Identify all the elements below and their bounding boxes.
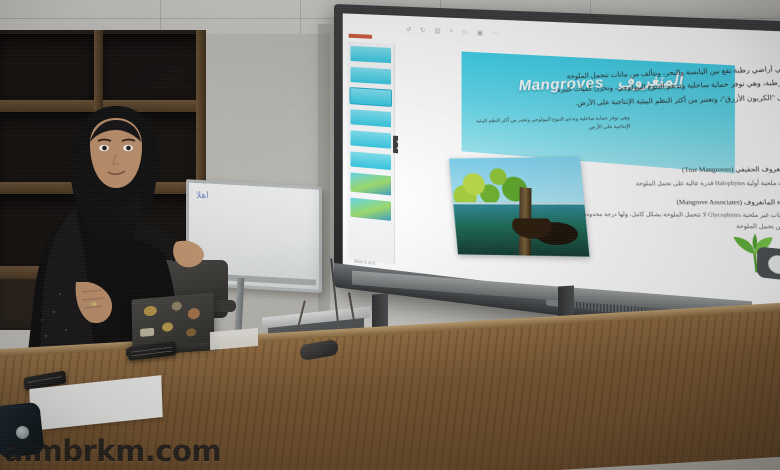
- bullet-head-arabic: المانغروف الحقيقي: [735, 167, 780, 174]
- list-item: المانغروف الحقيقي (True Mangroves) نباتا…: [576, 165, 780, 190]
- bullet-head-english: (True Mangroves): [682, 167, 734, 174]
- slide-bullet-list: المانغروف الحقيقي (True Mangroves) نباتا…: [576, 164, 780, 233]
- redo-icon[interactable]: ↻: [420, 26, 425, 33]
- bullet-head-english: (Mangrove Associates): [676, 199, 742, 206]
- photo-screenshot: اهلا ↺ ↻ ▤ ⌕ ▷ ▣ ⋯: [0, 0, 780, 470]
- slide-thumbnail[interactable]: [351, 109, 392, 127]
- play-icon[interactable]: ▷: [463, 28, 468, 36]
- slide-thumbnail[interactable]: [351, 130, 392, 148]
- bullet-sub: نباتات ملحية أولية Halophytes قدرة عالية…: [577, 177, 780, 189]
- bullet-head: المانغروف الحقيقي (True Mangroves): [576, 165, 780, 179]
- mangrove-photo: [449, 157, 590, 257]
- slide-section-heading: أنواع: [574, 143, 780, 161]
- slide-thumbnail[interactable]: [351, 172, 392, 195]
- slide-intro-text: أشجار هي أراضي رطبة تقع بين اليابسة والب…: [555, 62, 780, 111]
- slide-body-text: أنواع المانغروف الحقيقي (True Mangroves)…: [574, 143, 780, 242]
- undo-icon[interactable]: ↺: [406, 26, 411, 33]
- slide-thumbnail[interactable]: [351, 67, 392, 85]
- slide-thumbnail[interactable]: [351, 88, 392, 106]
- ppt-ribbon-tab[interactable]: [349, 34, 373, 39]
- slide-thumbnail[interactable]: [351, 151, 392, 170]
- slide-thumbnail[interactable]: [351, 46, 392, 63]
- slide-thumbnail[interactable]: [351, 198, 392, 221]
- bullet-head-arabic: شركاء المانغروف: [744, 200, 780, 207]
- shapes-icon[interactable]: ▣: [477, 29, 483, 37]
- zoom-icon[interactable]: ⌕: [450, 28, 454, 35]
- slide-thumbnail-panel[interactable]: [348, 42, 395, 264]
- bullet-sub: هي نباتات غير ملحية Glycophytes لا تتحمل…: [580, 209, 780, 233]
- list-item: شركاء المانغروف (Mangrove Associates) هي…: [579, 197, 780, 234]
- slide-caption: وهي توفر حماية ساحلية وتدعم التنوع البيو…: [465, 114, 631, 136]
- slide-counter: Slide 6 of 8: [353, 258, 375, 266]
- camera-icon: [757, 246, 780, 281]
- more-icon[interactable]: ⋯: [493, 29, 499, 37]
- save-icon[interactable]: ▤: [435, 27, 441, 34]
- bullet-head: شركاء المانغروف (Mangrove Associates): [579, 197, 780, 210]
- watermark: almbrkm.com: [4, 434, 264, 468]
